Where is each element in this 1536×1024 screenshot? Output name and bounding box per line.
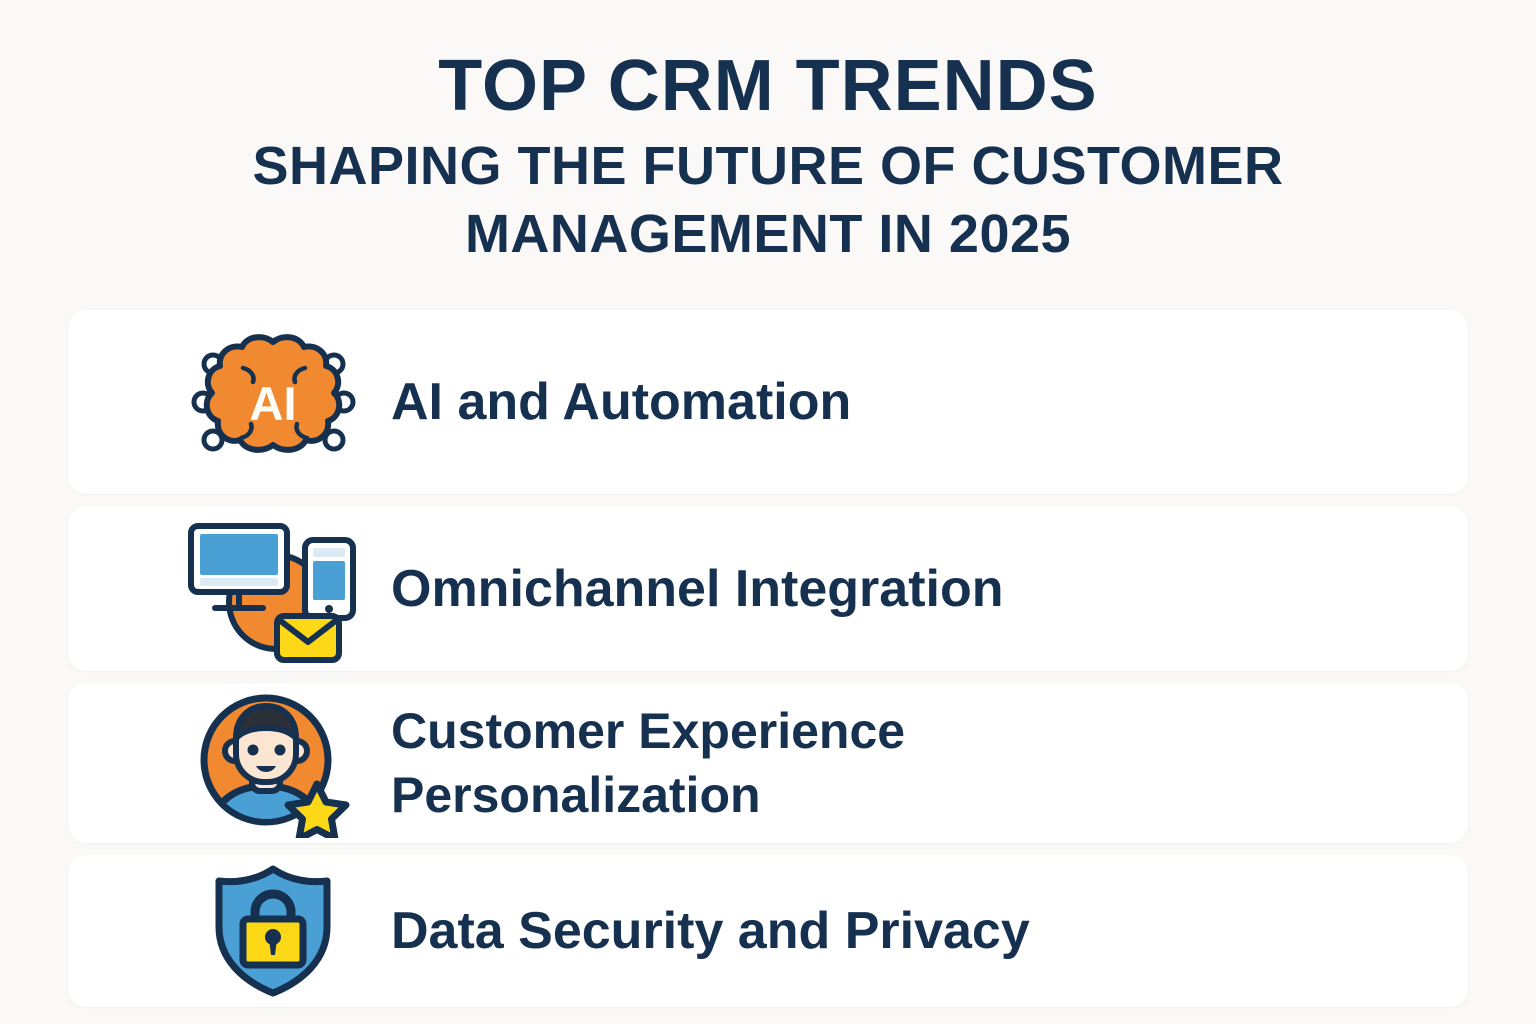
customer-star-icon xyxy=(173,688,373,838)
trend-label-omnichannel-integration: Omnichannel Integration xyxy=(391,558,1004,620)
trend-label-line-1: Customer Experience xyxy=(391,699,905,763)
trend-card-data-security-privacy[interactable]: Data Security and Privacy xyxy=(68,855,1468,1007)
ai-brain-icon-text: AI xyxy=(249,377,296,430)
trend-card-omnichannel-integration[interactable]: Omnichannel Integration xyxy=(68,506,1468,671)
ai-brain-icon: AI xyxy=(173,327,373,477)
trend-label-data-security-privacy: Data Security and Privacy xyxy=(391,900,1030,962)
trend-card-customer-experience-personalization[interactable]: Customer Experience Personalization xyxy=(68,683,1468,843)
trend-label-line-2: Personalization xyxy=(391,763,905,827)
page-subtitle: SHAPING THE FUTURE OF CUSTOMER MANAGEMEN… xyxy=(143,132,1393,268)
infographic-page: TOP CRM TRENDS SHAPING THE FUTURE OF CUS… xyxy=(0,0,1536,1024)
shield-lock-icon xyxy=(173,856,373,1006)
trend-label-ai-automation: AI and Automation xyxy=(391,371,851,433)
trend-label-customer-experience-personalization: Customer Experience Personalization xyxy=(391,699,905,827)
trend-card-ai-automation[interactable]: AI AI and Automation xyxy=(68,310,1468,494)
header: TOP CRM TRENDS SHAPING THE FUTURE OF CUS… xyxy=(0,0,1536,268)
omnichannel-devices-icon xyxy=(173,514,373,664)
page-title: TOP CRM TRENDS xyxy=(0,46,1536,126)
trend-list: AI AI and Automation xyxy=(68,310,1468,1019)
